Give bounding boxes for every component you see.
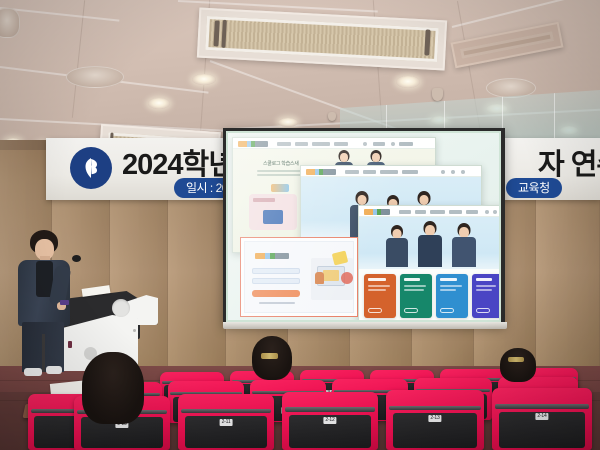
- presentation-remote: [60, 300, 69, 305]
- seat-number: 2-14: [535, 413, 548, 420]
- seat-number: 2-13: [428, 415, 441, 422]
- seat-number: 2-11: [220, 419, 233, 426]
- ceiling-speaker: [0, 8, 20, 38]
- attendee-left: [82, 352, 144, 424]
- site-logo-icon: [364, 209, 390, 215]
- ceiling-vent-right: [451, 22, 564, 69]
- screen-roller-bar: [223, 322, 507, 329]
- sprinkler-head: [432, 88, 443, 101]
- ceiling-ac-vent: [197, 8, 447, 71]
- seat[interactable]: 2-14: [492, 388, 592, 450]
- sprinkler-head: [328, 112, 336, 121]
- ceiling-downlight: [278, 118, 298, 127]
- lectern-dial: [112, 299, 130, 317]
- attendee-right: [252, 336, 292, 380]
- seat[interactable]: 2-12: [282, 392, 378, 450]
- slide-card: [436, 274, 468, 318]
- slide-window-login: [240, 237, 358, 317]
- login-pw-field[interactable]: [252, 278, 300, 284]
- ceiling-speaker: [66, 66, 124, 88]
- projection-screen: 스쿨로그 학습스새: [223, 128, 505, 326]
- presenter: [14, 230, 78, 375]
- login-submit-button[interactable]: [252, 290, 300, 297]
- banner-title-left: 2024학년: [122, 141, 234, 183]
- site-logo-icon: [306, 169, 336, 175]
- seat[interactable]: 2-11: [178, 394, 274, 450]
- banner-title-right: 자 연수: [538, 141, 600, 183]
- slide-window-front: [358, 205, 501, 322]
- ceiling-downlight: [148, 98, 170, 109]
- ceiling-downlight: [396, 76, 420, 88]
- ceiling-downlight: [192, 74, 216, 85]
- site-logo-icon: [238, 141, 268, 147]
- seat-number: 2-12: [323, 417, 336, 424]
- slide-headline: 스쿨로그 학습스새: [263, 160, 299, 167]
- hair-clip: [261, 353, 279, 359]
- slide-card: [472, 274, 501, 318]
- slide-card: [400, 274, 432, 318]
- attendee-farright: [500, 348, 536, 382]
- banner-organizer-pill: 교육청: [506, 178, 562, 198]
- seat[interactable]: 2-13: [386, 390, 484, 450]
- lecture-hall-photo: 2024학년 자 연수 일시 : 2024 교육청: [0, 0, 600, 450]
- login-id-field[interactable]: [252, 268, 300, 274]
- slide-card: [364, 274, 396, 318]
- education-office-emblem-icon: [70, 147, 112, 189]
